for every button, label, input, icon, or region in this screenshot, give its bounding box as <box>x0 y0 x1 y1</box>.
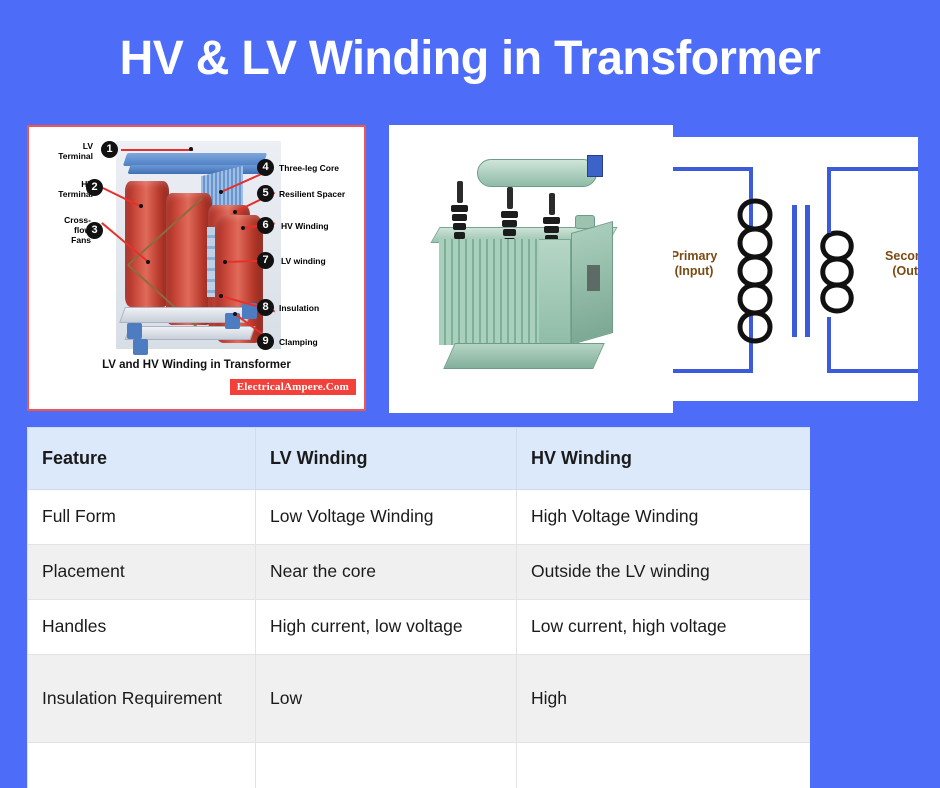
hv-bushing-2-icon <box>501 187 518 247</box>
callout-marker-3: 3 <box>86 222 103 239</box>
primary-top-wire <box>673 167 753 171</box>
secondary-label: Secondary (Output) <box>869 249 918 279</box>
leader-dot-4 <box>219 190 223 194</box>
secondary-label-line2: (Output) <box>892 264 918 278</box>
hv-bushing-1-icon <box>451 181 468 241</box>
table-row-partially-visible <box>28 743 811 788</box>
leader-dot-1 <box>189 147 193 151</box>
cell-hv <box>517 743 811 788</box>
oil-transformer-illustration <box>425 143 637 395</box>
radiator-fins-icon <box>439 239 539 345</box>
column-header-feature: Feature <box>28 428 256 490</box>
secondary-bottom-riser <box>827 317 831 373</box>
table-row: Full Form Low Voltage Winding High Volta… <box>28 490 811 545</box>
column-header-lv-winding: LV Winding <box>256 428 517 490</box>
secondary-bottom-wire <box>827 369 918 373</box>
page-title: HV & LV Winding in Transformer <box>14 34 926 84</box>
clamping-foot-2-icon <box>133 339 148 355</box>
cell-hv: High Voltage Winding <box>517 490 811 545</box>
secondary-label-line1: Secondary <box>885 249 918 263</box>
cell-lv <box>256 743 517 788</box>
core-bar-right <box>805 205 810 337</box>
callout-label-3: Cross-flowFans <box>39 215 91 245</box>
conservator-tank-icon <box>477 159 597 187</box>
callout-label-1: LVTerminal <box>43 141 93 161</box>
secondary-winding-coil-icon <box>813 227 863 327</box>
callout-label-4: Three-leg Core <box>279 163 365 173</box>
core-bar-left <box>792 205 797 337</box>
figure-oil-filled-transformer-photo <box>389 125 673 413</box>
leader-dot-2 <box>139 204 143 208</box>
callout-label-9: Clamping <box>279 337 351 347</box>
cell-hv: Low current, high voltage <box>517 600 811 655</box>
column-header-hv-winding: HV Winding <box>517 428 811 490</box>
figure-transformer-circuit-schematic: Primary (Input) Secondary (Output) <box>673 137 918 401</box>
figure-strip: LVTerminal 1 HVTerminal 2 Cross-flowFans… <box>0 125 940 415</box>
callout-label-8: Insulation <box>279 303 351 313</box>
leader-dot-7 <box>223 260 227 264</box>
secondary-top-riser <box>827 167 831 233</box>
rating-plate-icon <box>587 265 600 291</box>
figure-1-watermark: ElectricalAmpere.Com <box>230 379 356 395</box>
primary-label-line1: Primary <box>673 249 717 263</box>
callout-marker-5: 5 <box>257 185 274 202</box>
buchholz-relay-icon <box>587 155 603 177</box>
cell-lv: Low <box>256 655 517 743</box>
cell-hv: Outside the LV winding <box>517 545 811 600</box>
leader-dot-8 <box>219 294 223 298</box>
leader-dot-3 <box>146 260 150 264</box>
primary-bottom-wire <box>673 369 753 373</box>
base-skid-icon <box>443 343 605 369</box>
table-row: Handles High current, low voltage Low cu… <box>28 600 811 655</box>
secondary-top-wire <box>827 167 918 171</box>
callout-marker-1: 1 <box>101 141 118 158</box>
cell-hv: High <box>517 655 811 743</box>
callout-marker-6: 6 <box>257 217 274 234</box>
cell-feature: Full Form <box>28 490 256 545</box>
leader-dot-5 <box>233 210 237 214</box>
callout-label-7: LV winding <box>281 256 361 266</box>
hv-lv-comparison-table: Feature LV Winding HV Winding Full Form … <box>27 427 810 788</box>
table-header-row: Feature LV Winding HV Winding <box>28 428 811 490</box>
cell-lv: High current, low voltage <box>256 600 517 655</box>
callout-marker-2: 2 <box>86 179 103 196</box>
callout-marker-8: 8 <box>257 299 274 316</box>
diagram-illustration: LVTerminal 1 HVTerminal 2 Cross-flowFans… <box>29 127 364 359</box>
page-title-bar: HV & LV Winding in Transformer <box>0 34 940 84</box>
figure-dry-type-labelled-diagram: LVTerminal 1 HVTerminal 2 Cross-flowFans… <box>27 125 366 411</box>
callout-label-6: HV Winding <box>281 221 361 231</box>
cell-feature: Handles <box>28 600 256 655</box>
clamping-foot-1-icon <box>127 323 142 339</box>
table-row: Placement Near the core Outside the LV w… <box>28 545 811 600</box>
callout-marker-9: 9 <box>257 333 274 350</box>
cell-feature: Insulation Requirement <box>28 655 256 743</box>
cell-feature <box>28 743 256 788</box>
cross-brace-icon <box>128 219 214 311</box>
leader-dot-6 <box>241 226 245 230</box>
cell-feature: Placement <box>28 545 256 600</box>
leader-dot-9 <box>233 312 237 316</box>
schematic-illustration: Primary (Input) Secondary (Output) <box>673 137 918 401</box>
primary-label: Primary (Input) <box>673 249 739 279</box>
callout-marker-4: 4 <box>257 159 274 176</box>
comparison-table-wrapper: Feature LV Winding HV Winding Full Form … <box>27 427 810 788</box>
top-clamp-beam-secondary-icon <box>128 165 267 174</box>
table-row: Insulation Requirement Low High <box>28 655 811 743</box>
callout-marker-7: 7 <box>257 252 274 269</box>
callout-label-5: Resilient Spacer <box>279 189 366 199</box>
leader-line-1 <box>121 149 193 151</box>
cell-lv: Low Voltage Winding <box>256 490 517 545</box>
primary-label-line2: (Input) <box>675 264 714 278</box>
cell-lv: Near the core <box>256 545 517 600</box>
figure-1-caption: LV and HV Winding in Transformer <box>29 359 364 371</box>
